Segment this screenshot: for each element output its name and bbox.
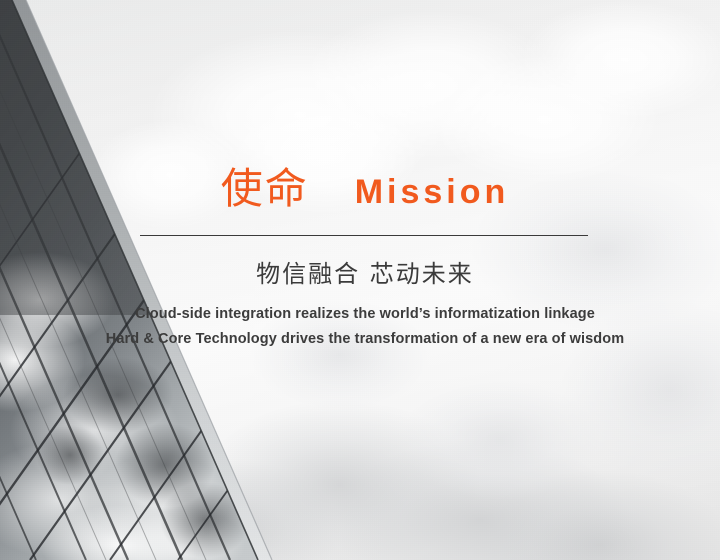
banner-heading: 使命 Mission xyxy=(140,168,590,226)
tagline-line-1: Cloud-side integration realizes the worl… xyxy=(65,302,665,327)
tagline-block: Cloud-side integration realizes the worl… xyxy=(65,302,665,352)
mission-banner: 使命 Mission 物信融合 芯动未来 Cloud-side integrat… xyxy=(0,0,720,560)
tagline-line-2: Hard & Core Technology drives the transf… xyxy=(65,327,665,352)
title-divider xyxy=(140,235,588,236)
subtitle-chinese: 物信融合 芯动未来 xyxy=(140,258,590,290)
banner-content: 使命 Mission 物信融合 芯动未来 Cloud-side integrat… xyxy=(0,0,720,560)
page-title-english: Mission xyxy=(355,175,510,209)
page-title-chinese: 使命 xyxy=(221,168,309,210)
